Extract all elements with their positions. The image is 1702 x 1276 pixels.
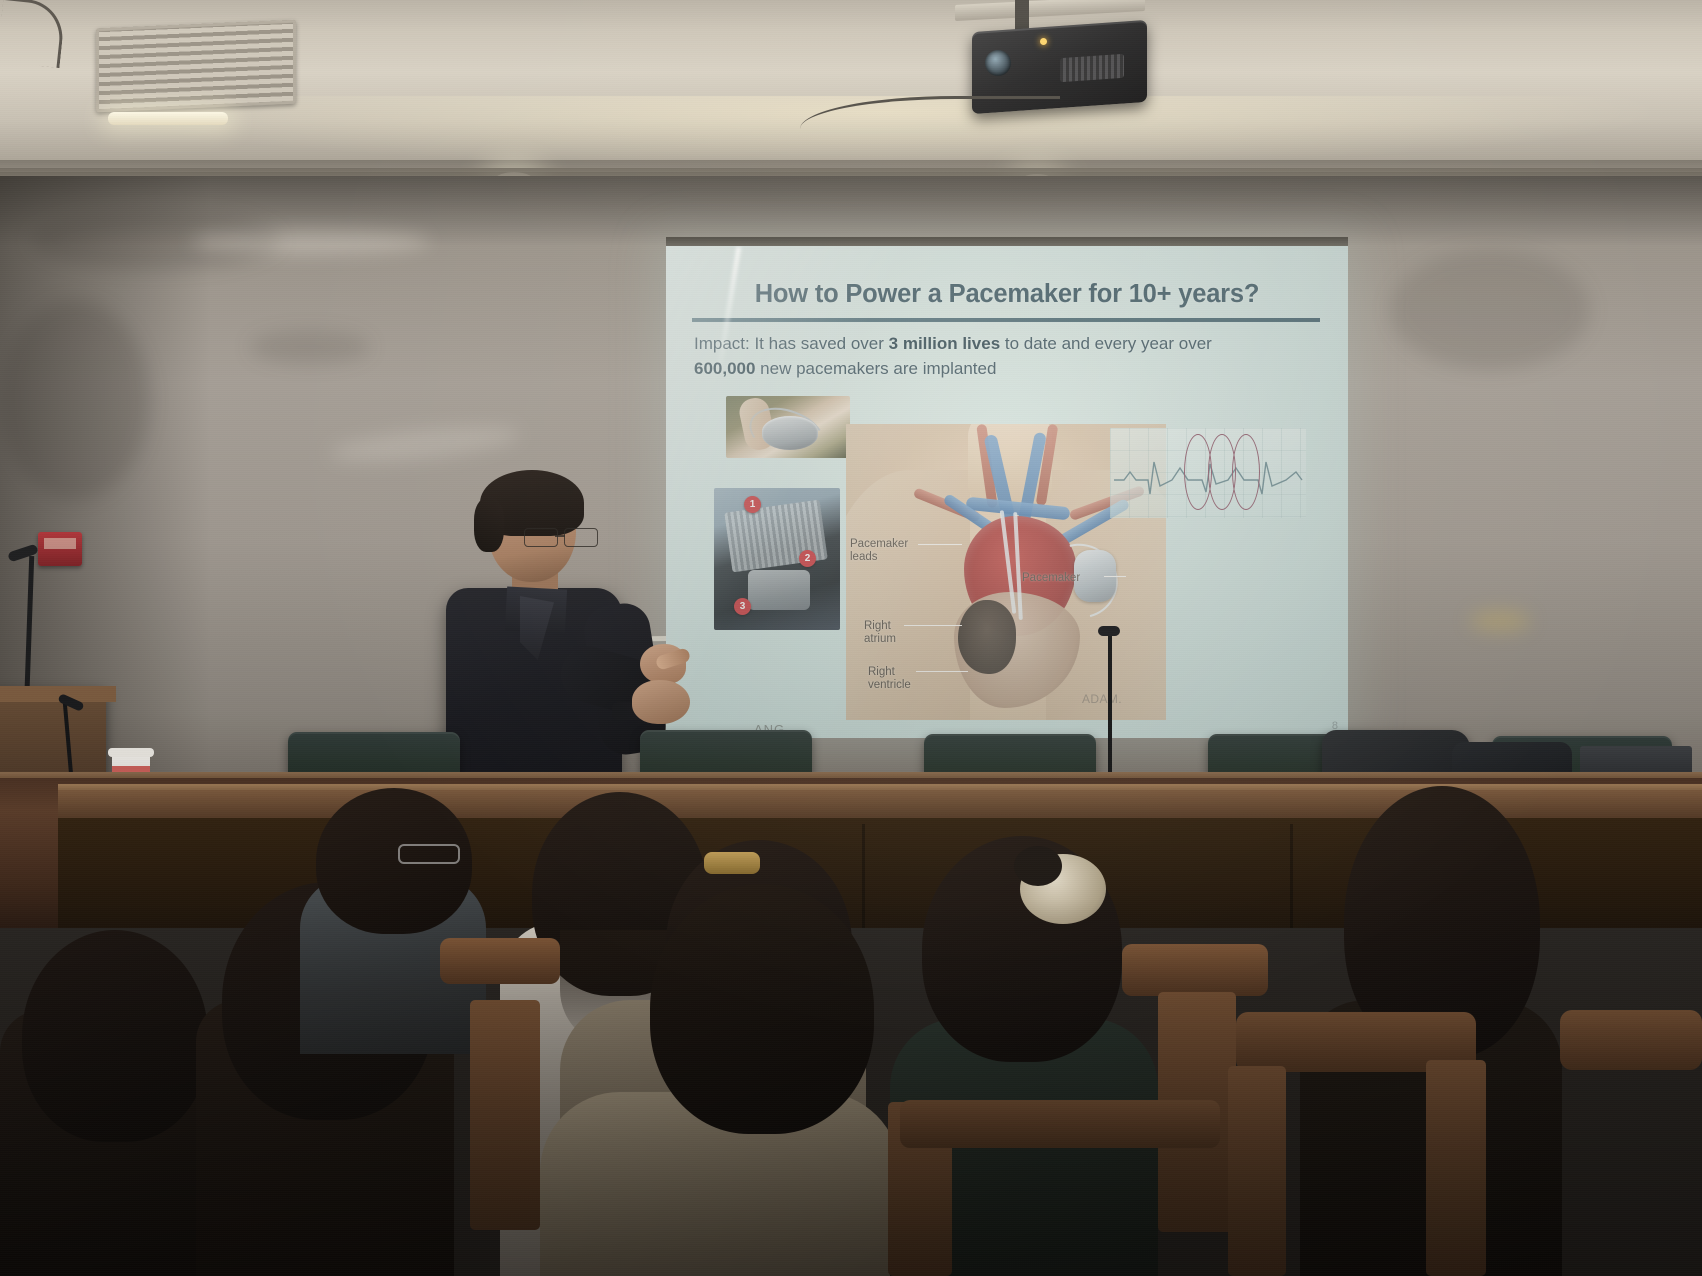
- glasses-left-lens: [524, 528, 558, 547]
- annotation-line-1: Right: [868, 666, 911, 679]
- annotation-line-2: atrium: [864, 633, 896, 646]
- audience-chair-back: [1560, 1010, 1702, 1070]
- panel-seam: [1290, 824, 1293, 928]
- pacemaker-device: [762, 416, 818, 450]
- hair-bun: [1014, 846, 1062, 886]
- annotation-leader-line: [904, 625, 962, 626]
- wall-shadow-top: [0, 176, 1702, 246]
- lecture-hall-photo: How to Power a Pacemaker for 10+ years? …: [0, 0, 1702, 1276]
- slide-body-text: Impact: It has saved over 3 million live…: [694, 332, 1312, 381]
- presenter-hand-lower: [632, 680, 690, 724]
- annotation-leader-line: [916, 671, 968, 672]
- slide-title: How to Power a Pacemaker for 10+ years?: [694, 280, 1320, 309]
- body-line2-post: new pacemakers are implanted: [755, 359, 996, 378]
- right-ventricle-cavity: [958, 600, 1016, 674]
- ecg-waveform-panel: [1110, 428, 1306, 518]
- diagram-credit: ADAM.: [1082, 692, 1122, 706]
- body-line2-bold: 600,000: [694, 359, 755, 378]
- procedure-device: [748, 570, 810, 610]
- projector-status-led-icon: [1040, 38, 1047, 45]
- step-badge-2: 2: [799, 550, 816, 567]
- body-line1-post: to date and every year over: [1000, 334, 1212, 353]
- attendee-head: [650, 884, 874, 1134]
- annotation-line-2: leads: [850, 551, 908, 564]
- step-badge-3: 3: [734, 598, 751, 615]
- wall-mark-yellow: [1470, 610, 1530, 632]
- projection-screen: How to Power a Pacemaker for 10+ years? …: [666, 246, 1348, 738]
- audience-chair: [1426, 1060, 1486, 1276]
- ecg-highlight-loop: [1232, 434, 1260, 510]
- pacemaker-in-hand-photo: [726, 396, 850, 458]
- projector-mount-pole: [1015, 0, 1029, 30]
- hair-clip: [704, 852, 760, 874]
- projector-lens-icon: [985, 50, 1011, 76]
- annotation-line-2: ventricle: [868, 679, 911, 692]
- step-badge-1: 1: [744, 496, 761, 513]
- air-vent: [96, 20, 296, 113]
- annotation-line-1: Pacemaker: [1022, 572, 1080, 585]
- implant-procedure-photo: 1 2 3: [714, 488, 840, 630]
- wall-stain: [250, 330, 370, 364]
- annotation-right-ventricle: Right ventricle: [868, 666, 911, 693]
- annotation-leader-line: [918, 544, 962, 545]
- annotation-pacemaker-leads: Pacemaker leads: [850, 538, 908, 565]
- projector-vent: [1060, 54, 1124, 82]
- audience-chair: [470, 1000, 540, 1230]
- fire-alarm-label: [44, 538, 76, 549]
- glasses-right-lens: [564, 528, 598, 547]
- annotation-line-1: Pacemaker: [850, 538, 908, 551]
- wall-stain: [1390, 250, 1590, 370]
- audience-chair: [1228, 1066, 1286, 1276]
- audience-chair-back: [440, 938, 560, 984]
- table-microphone-icon: [1098, 626, 1120, 636]
- body-line1-bold: 3 million lives: [889, 334, 1001, 353]
- slide-title-divider: [692, 318, 1320, 322]
- projected-slide: How to Power a Pacemaker for 10+ years? …: [666, 246, 1348, 738]
- annotation-pacemaker: Pacemaker: [1022, 572, 1080, 585]
- annotation-line-1: Right: [864, 620, 896, 633]
- presenter-hair-side: [474, 498, 504, 552]
- audience-chair-back: [1122, 944, 1268, 996]
- annotation-leader-line: [1104, 576, 1126, 577]
- attendee-head: [22, 930, 208, 1142]
- annotation-right-atrium: Right atrium: [864, 620, 896, 647]
- glasses-icon: [398, 844, 460, 864]
- audience-chair-back: [900, 1100, 1220, 1148]
- glasses-icon: [524, 528, 600, 546]
- panel-seam: [862, 824, 865, 928]
- fluorescent-tube-light: [108, 112, 228, 125]
- coffee-cup-lid: [108, 748, 154, 757]
